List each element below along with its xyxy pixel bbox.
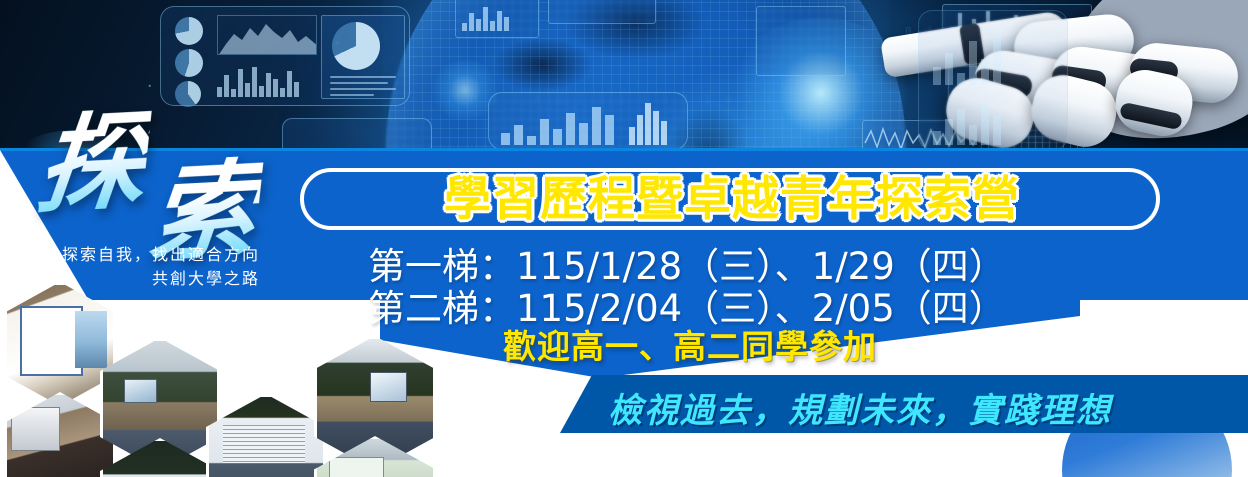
hud-mini-panel-center — [548, 0, 656, 24]
subtitle-line-1: 探索自我，找出適合方向 — [62, 245, 260, 264]
logo-char-tan: 探 — [32, 107, 152, 221]
page-title: 學習歷程暨卓越青年探索營 — [312, 170, 1152, 228]
hud-line — [330, 82, 388, 84]
collage-photo-poster — [4, 282, 116, 406]
donut-chart-icon — [332, 22, 380, 70]
hud-line — [330, 76, 396, 78]
hud-line — [330, 94, 374, 96]
globe-bar-chart-icon — [501, 103, 614, 145]
poster-photo — [7, 285, 113, 403]
promo-banner: 0 1 0 0 1 1 0 1 0 1 1 0 0 1 0 1 1 0 1 0 … — [0, 0, 1248, 477]
welcome-message: 歡迎高一、高二同學參加 — [503, 320, 877, 368]
hud-mini-panel-left — [455, 0, 539, 38]
subtitle-line-2: 共創大學之路 — [62, 267, 260, 291]
slides-photo — [209, 397, 323, 477]
pie-chart-icon — [175, 17, 203, 45]
hud-overlay-on-hand — [918, 10, 1068, 150]
mini-bar-chart-icon — [462, 3, 509, 31]
pie-chart-3-icon — [175, 81, 201, 107]
notes-photo — [7, 395, 113, 477]
hud-line — [330, 88, 396, 90]
logo-subtitle: 探索自我，找出適合方向 共創大學之路 — [62, 243, 260, 291]
overlay-bar-chart-2-icon — [933, 101, 1001, 145]
overlay-bar-chart-icon — [933, 35, 1001, 85]
globe-histogram-icon — [629, 101, 667, 145]
area-chart-icon — [217, 15, 317, 55]
pie-chart-2-icon — [175, 49, 203, 77]
area-chart-svg — [218, 16, 317, 55]
collage-photo-desk — [4, 392, 116, 477]
tagline-text: 檢視過去，規劃未來，實踐理想 — [608, 383, 1112, 432]
bar-chart-icon — [217, 63, 299, 97]
hud-bars-panel — [488, 92, 688, 150]
collage-photo-slides — [206, 394, 326, 477]
hud-dashboard-panel — [160, 6, 410, 106]
hud-sub-panel — [321, 15, 405, 99]
